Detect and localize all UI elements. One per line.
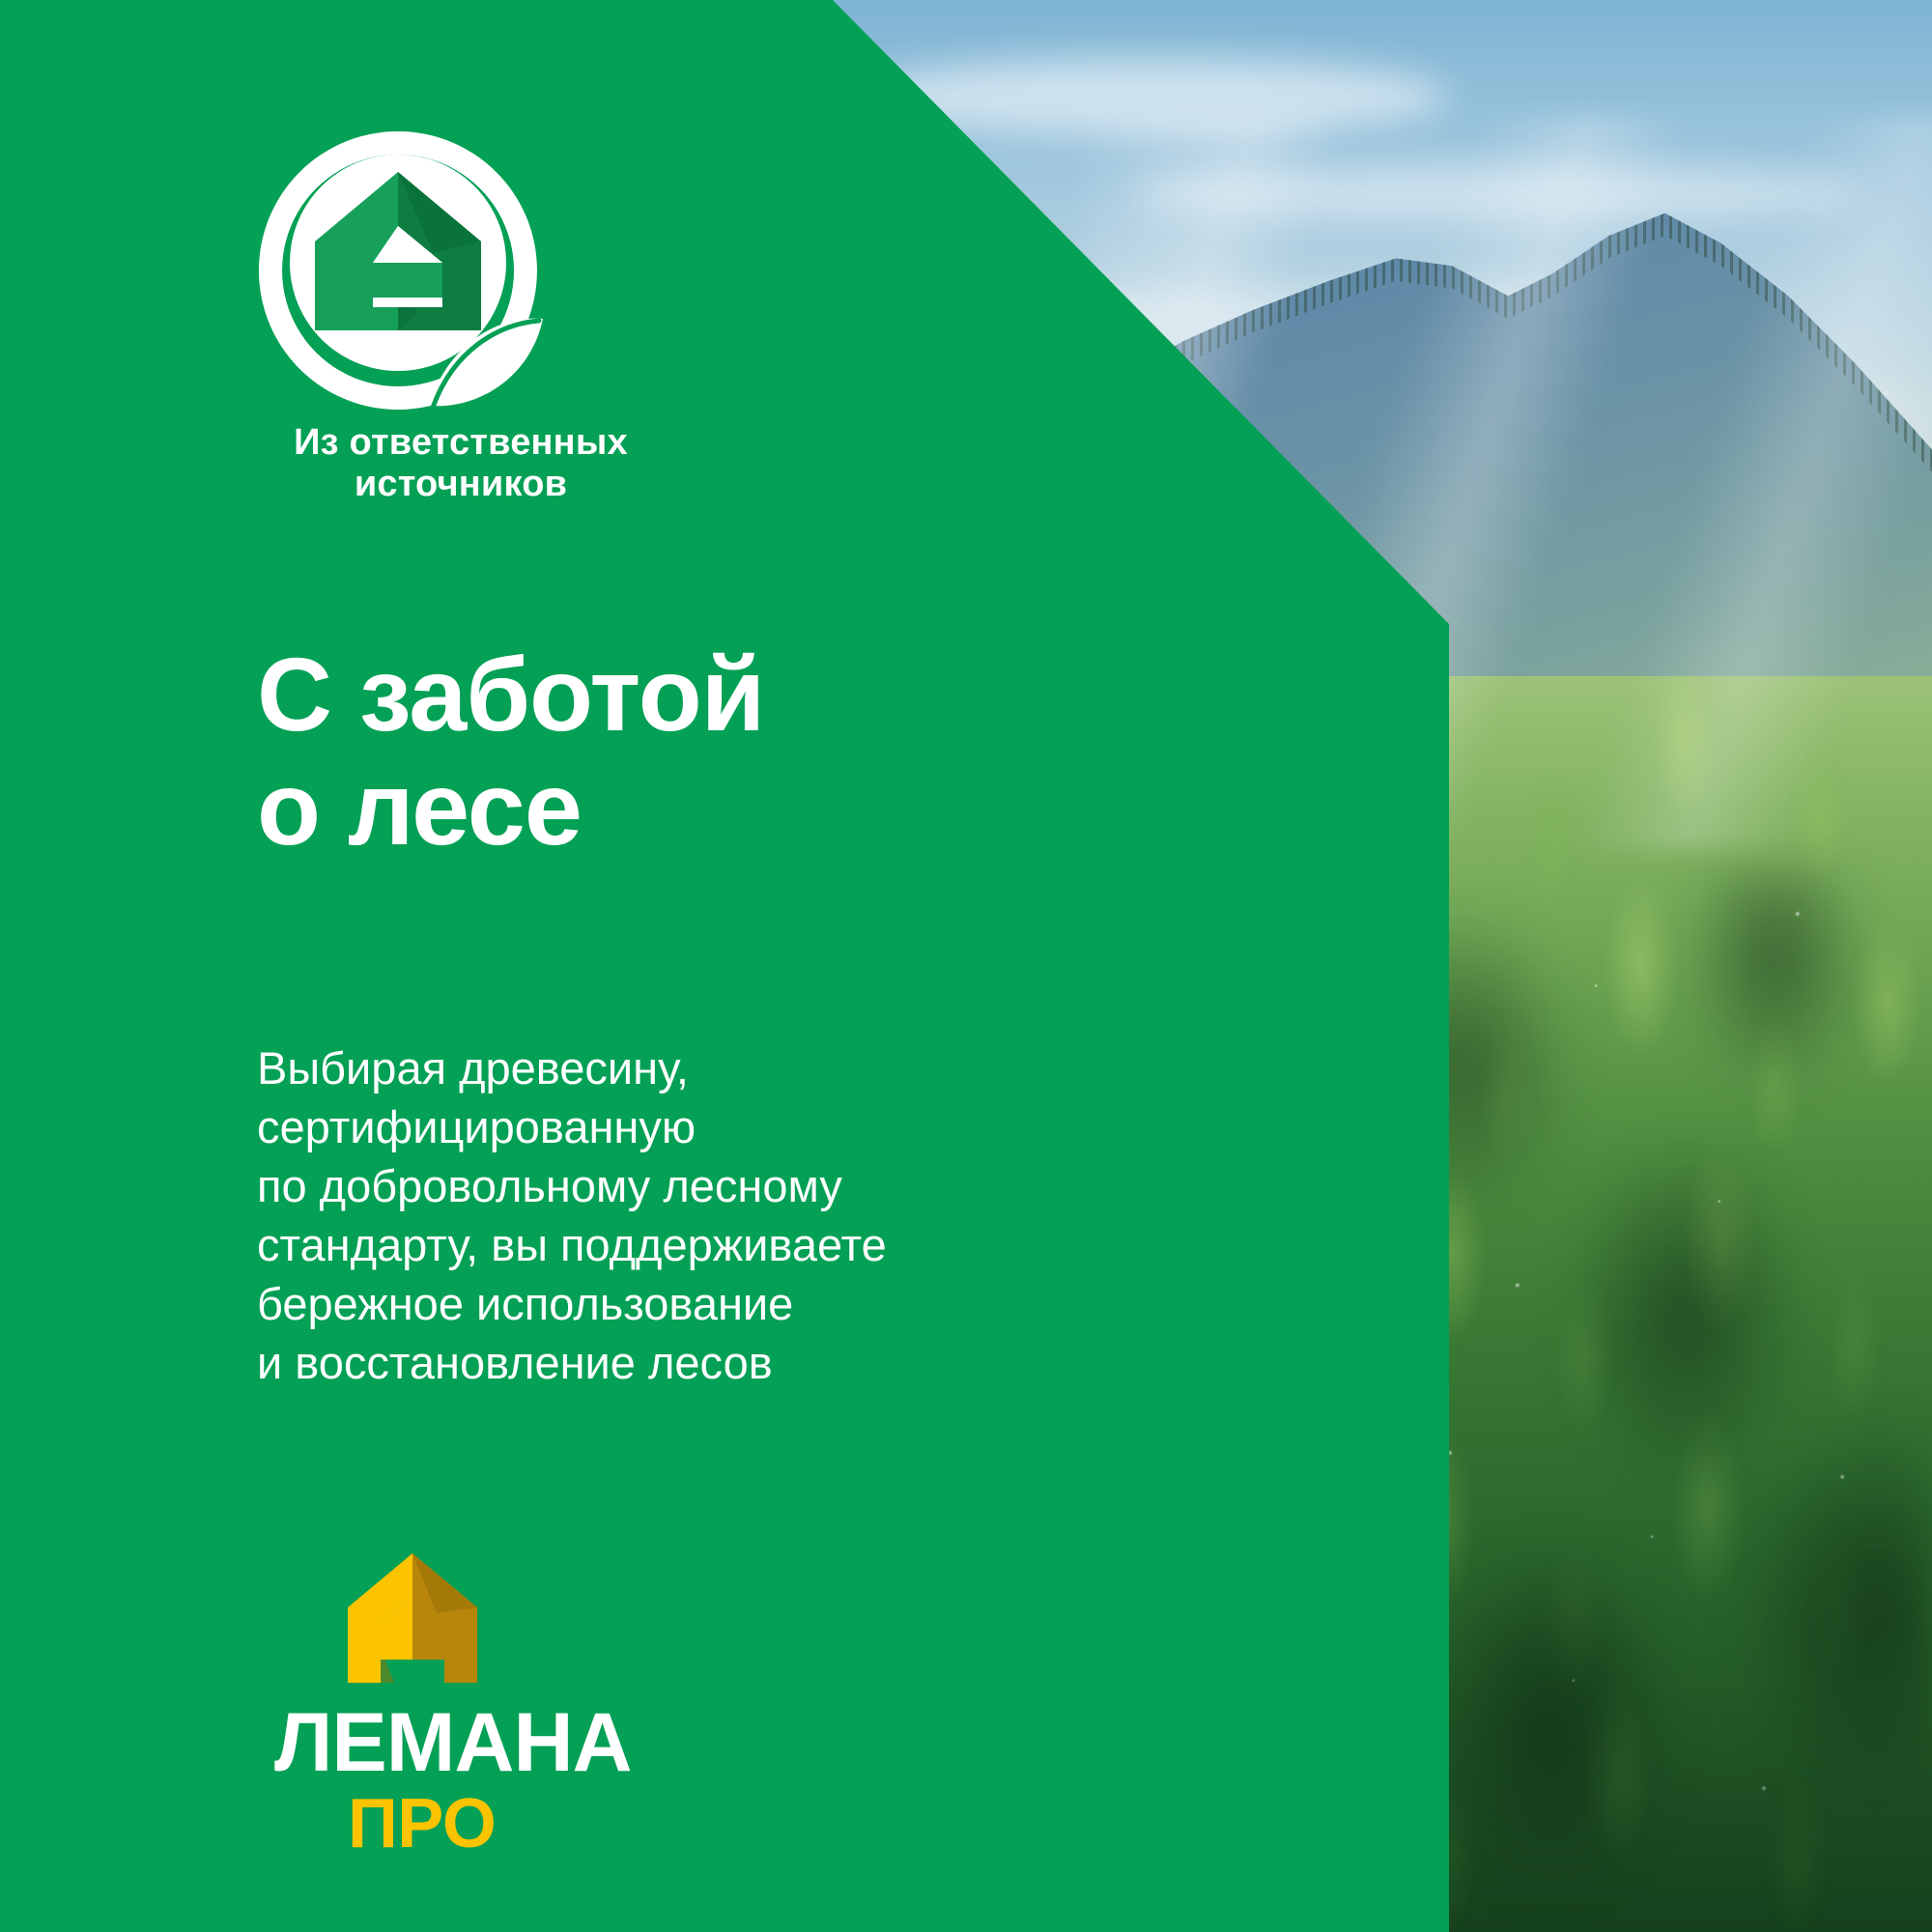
page-title: С заботой о лесе [257,638,1126,865]
body-line-1: Выбирая древесину, [257,1038,1049,1097]
house-outline-icon [340,1546,485,1690]
body-line-6: и восстановление лесов [257,1333,1049,1392]
brand-subname: ПРО [348,1789,659,1859]
eco-caption-line-1: Из ответственных [294,422,628,463]
brand-lockup: ЛЕМАНА ПРО [253,1546,659,1859]
headline-line-2: о лесе [257,752,1126,866]
poster-canvas: Из ответственных источников С заботой о … [0,0,1932,1932]
body-line-2: сертифицированную [257,1097,1049,1156]
headline-line-1: С заботой [257,636,764,753]
eco-caption-line-2: источников [253,464,668,505]
eco-badge-caption: Из ответственных источников [253,422,668,506]
house-leaf-circle-icon [253,126,543,415]
body-line-5: бережное использование [257,1274,1049,1333]
body-paragraph: Выбирая древесину, сертифицированную по … [257,1038,1049,1393]
body-line-4: стандарту, вы поддерживаете [257,1215,1049,1274]
body-line-3: по добровольному лесному [257,1156,1049,1215]
brand-name: ЛЕМАНА [274,1704,659,1783]
poster-content: Из ответственных источников С заботой о … [0,0,1449,1932]
